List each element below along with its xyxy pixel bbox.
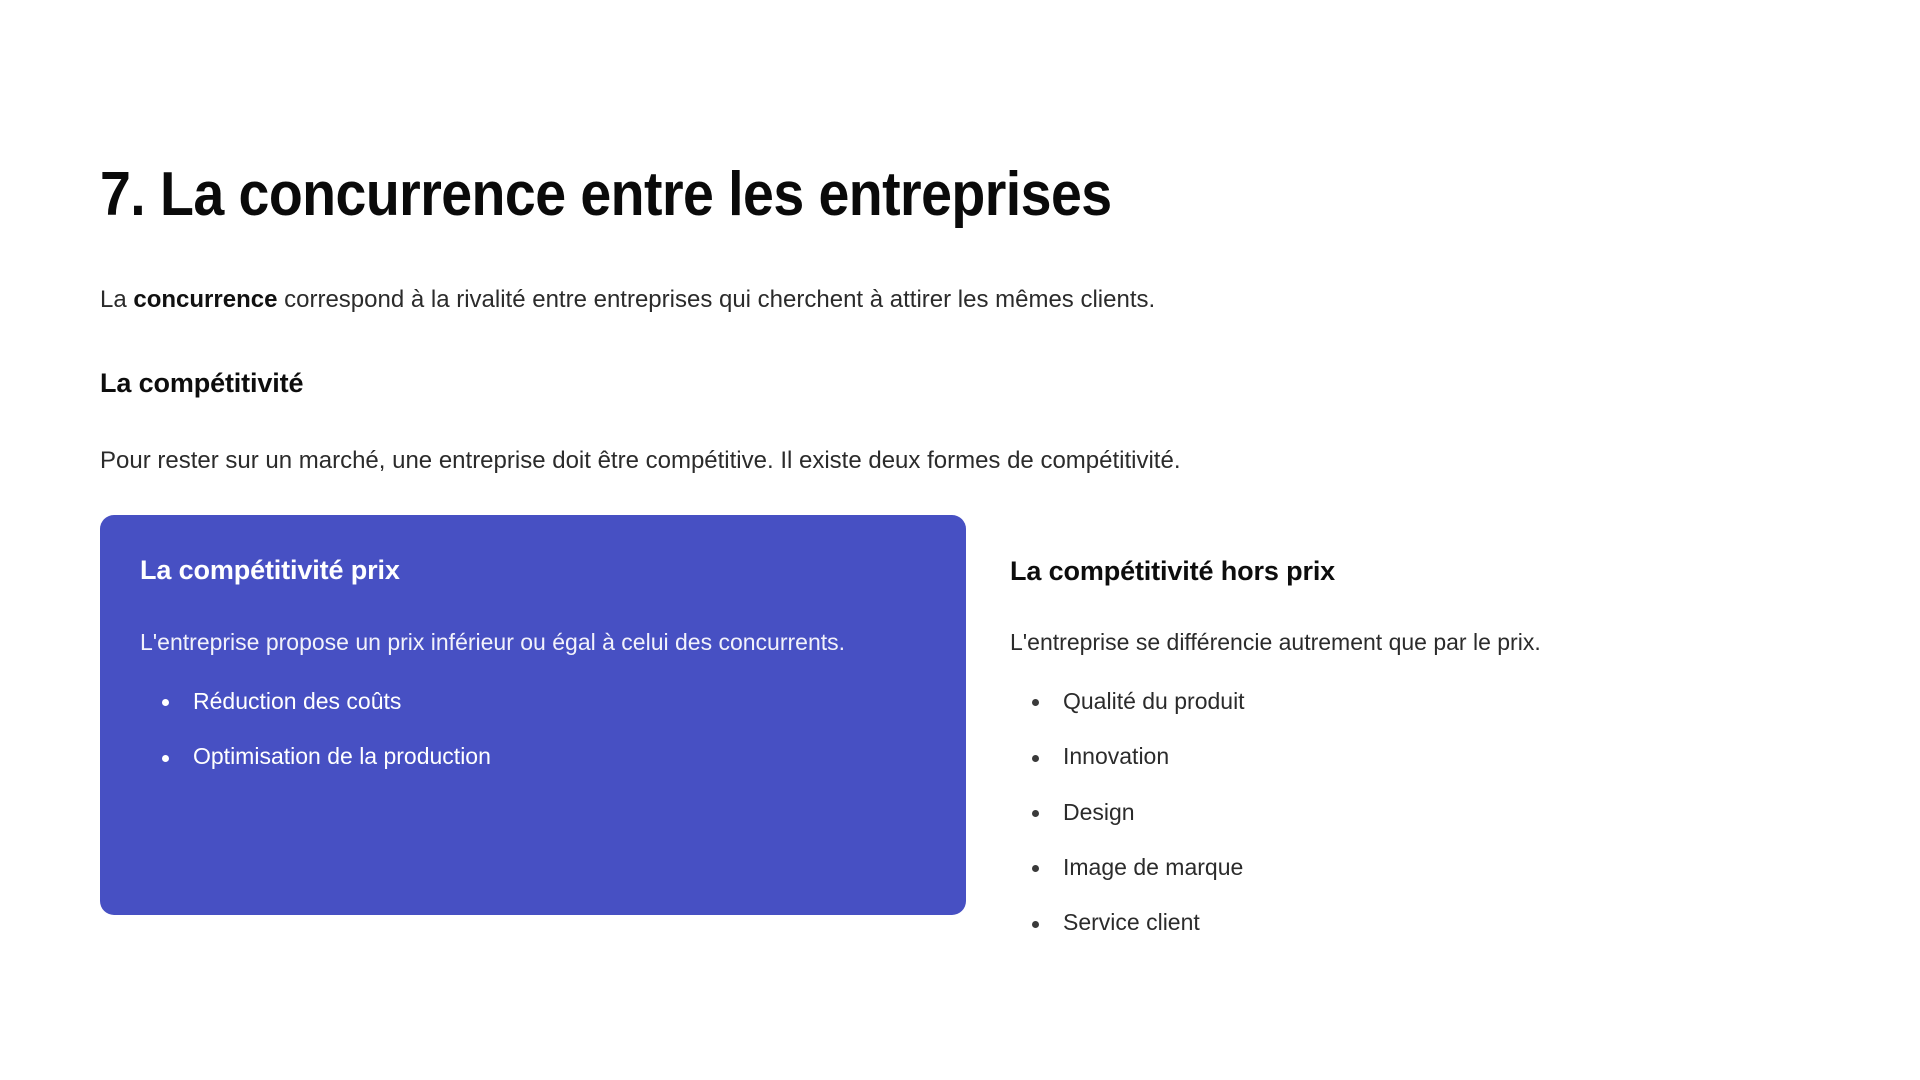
- list-item-label: Qualité du produit: [1063, 688, 1245, 714]
- intro-rest: correspond à la rivalité entre entrepris…: [277, 286, 1155, 313]
- intro-paragraph: La concurrence correspond à la rivalité …: [100, 229, 1840, 318]
- bullet-dot-icon: [1032, 921, 1039, 928]
- bullet-dot-icon: [1032, 810, 1039, 817]
- section-heading: La compétitivité: [100, 318, 1840, 401]
- intro-emphasis: concurrence: [133, 286, 277, 313]
- comparison-columns: La compétitivité prix L'entreprise propo…: [100, 479, 1840, 940]
- list-item-label: Service client: [1063, 909, 1200, 935]
- card-bullet-list: Réduction des coûts Optimisation de la p…: [140, 659, 926, 774]
- section-paragraph: Pour rester sur un marché, une entrepris…: [100, 402, 1840, 479]
- card-competitivite-prix: La compétitivité prix L'entreprise propo…: [100, 515, 966, 915]
- card-title: La compétitivité prix: [140, 553, 926, 588]
- list-item-label: Réduction des coûts: [193, 688, 401, 714]
- column-non-price-competitiveness: La compétitivité hors prix L'entreprise …: [1010, 515, 1876, 940]
- list-item-label: Image de marque: [1063, 854, 1243, 880]
- list-item: Qualité du produit: [1010, 685, 1876, 718]
- card-description: L'entreprise propose un prix inférieur o…: [140, 588, 926, 659]
- list-item: Optimisation de la production: [140, 740, 926, 773]
- card-description: L'entreprise se différencie autrement qu…: [1010, 589, 1876, 659]
- page-title: 7. La concurrence entre les entreprises: [100, 0, 1657, 229]
- column-price-competitiveness: La compétitivité prix L'entreprise propo…: [100, 515, 966, 915]
- list-item: Service client: [1010, 906, 1876, 939]
- card-title: La compétitivité hors prix: [1010, 554, 1876, 589]
- bullet-dot-icon: [1032, 865, 1039, 872]
- document-content: 7. La concurrence entre les entreprises …: [100, 0, 1840, 940]
- bullet-dot-icon: [162, 755, 169, 762]
- list-item: Image de marque: [1010, 851, 1876, 884]
- list-item-label: Optimisation de la production: [193, 743, 491, 769]
- list-item-label: Design: [1063, 799, 1135, 825]
- document-page: 7. La concurrence entre les entreprises …: [0, 0, 1920, 1080]
- list-item: Réduction des coûts: [140, 685, 926, 718]
- bullet-dot-icon: [162, 699, 169, 706]
- intro-lead: La: [100, 286, 133, 313]
- list-item-label: Innovation: [1063, 743, 1169, 769]
- bullet-dot-icon: [1032, 755, 1039, 762]
- list-item: Innovation: [1010, 740, 1876, 773]
- list-item: Design: [1010, 796, 1876, 829]
- bullet-dot-icon: [1032, 699, 1039, 706]
- card-bullet-list: Qualité du produit Innovation Design Ima…: [1010, 659, 1876, 940]
